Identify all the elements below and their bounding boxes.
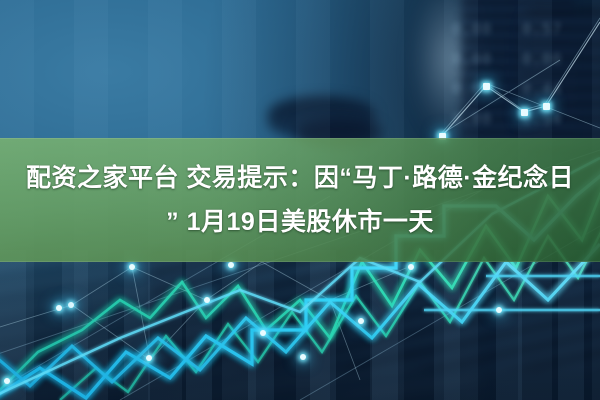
chart-node — [56, 305, 62, 311]
chart-node — [129, 264, 135, 270]
chart-node — [204, 297, 210, 303]
chart-node — [228, 262, 234, 268]
chart-node — [543, 103, 550, 110]
headline-line-2: ” 1月19日美股休市一天 — [166, 200, 434, 244]
chart-node — [300, 354, 306, 360]
chart-node — [521, 109, 528, 116]
chart-node — [408, 264, 414, 270]
chart-node — [68, 302, 74, 308]
chart-node — [496, 307, 502, 313]
news-banner: 0.00 0.57 0.00 0.00 0.00 0.44 0.00 0.54 — [0, 0, 600, 400]
headline-band: 配资之家平台 交易提示：因“马丁·路德·金纪念日 ” 1月19日美股休市一天 — [0, 138, 600, 262]
chart-node — [146, 355, 152, 361]
chart-node — [483, 83, 490, 90]
headline-line-1: 配资之家平台 交易提示：因“马丁·路德·金纪念日 — [26, 156, 574, 200]
chart-node — [4, 378, 10, 384]
chart-node — [358, 318, 364, 324]
chart-node — [260, 330, 266, 336]
